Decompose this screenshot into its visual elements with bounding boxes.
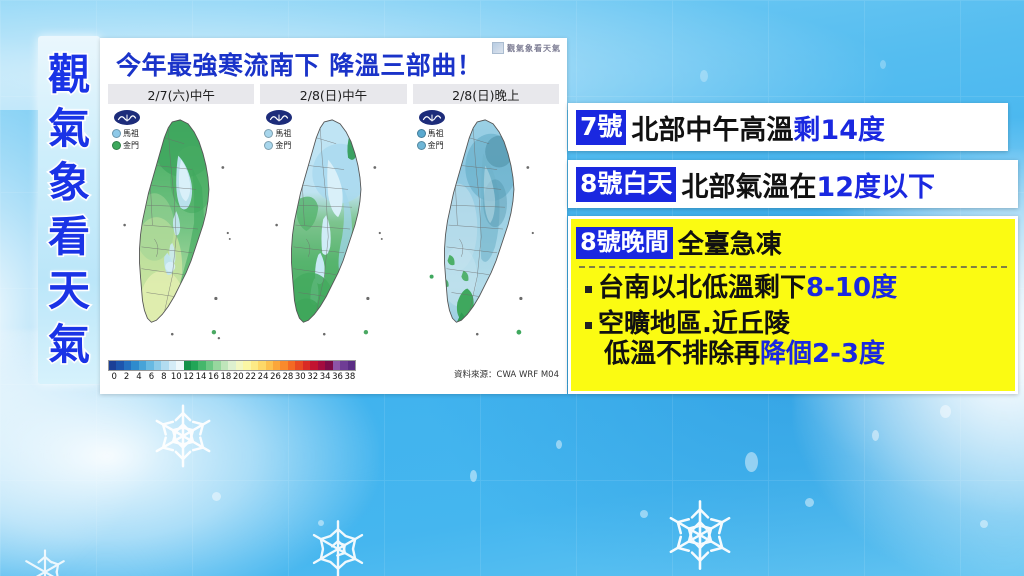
snowflake-icon	[305, 516, 371, 576]
map-card-header: 今年最強寒流南下 降溫三部曲！ 觀氣象看天氣	[100, 38, 567, 84]
colorbar-swatch	[184, 361, 191, 370]
colorbar-swatch	[236, 361, 243, 370]
colorbar-tick: 6	[145, 372, 157, 382]
colorbar-swatch	[333, 361, 340, 370]
island-label: 金門	[428, 140, 444, 151]
colorbar-swatch	[340, 361, 347, 370]
snowflake-icon	[660, 495, 740, 575]
colorbar-tick: 4	[133, 372, 145, 382]
island-label: 金門	[275, 140, 291, 151]
info-line: 7號 北部中午高溫 剩14度	[571, 106, 1005, 148]
temperature-colorbar: 02468101214161820222426283032343638	[108, 360, 356, 382]
bullet-text: 空曠地區.近丘陵 低溫不排除再降個2-3度	[598, 309, 885, 370]
bullet-text-black-2: 低溫不排除再	[604, 339, 760, 369]
island-color-swatch	[112, 129, 121, 138]
vertical-title-char: 觀	[48, 54, 90, 96]
info-badge-day8-daytime: 8號白天	[576, 167, 676, 202]
colorbar-tick: 14	[195, 372, 207, 382]
colorbar-tick: 12	[182, 372, 194, 382]
colorbar-swatch	[116, 361, 123, 370]
vertical-title-char: 氣	[48, 108, 90, 150]
island-color-swatch	[417, 129, 426, 138]
colorbar-swatch	[251, 361, 258, 370]
colorbar-swatch	[273, 361, 280, 370]
colorbar-tick: 22	[244, 372, 256, 382]
colorbar-swatch	[161, 361, 168, 370]
highlight-bullet-1: 台南以北低溫剩下8-10度	[571, 268, 1015, 304]
colorbar-swatch	[325, 361, 332, 370]
info-text-black: 北部氣溫在	[681, 165, 816, 204]
bullet-square-icon	[585, 322, 592, 329]
island-legend-row: 馬祖	[417, 128, 444, 139]
vertical-title-char: 氣	[48, 324, 90, 366]
info-badge-day7: 7號	[576, 110, 626, 145]
map-colorbar-row: 02468101214161820222426283032343638 資料來源…	[100, 356, 567, 382]
bullet-text-black: 台南以北低溫剩下	[598, 273, 806, 303]
island-color-swatch	[417, 141, 426, 150]
colorbar-tick: 16	[207, 372, 219, 382]
bullet-square-icon	[585, 286, 592, 293]
map-date-labels: 2/7(六)中午 2/8(日)中午 2/8(日)晚上	[100, 84, 567, 104]
colorbar-swatch	[176, 361, 183, 370]
colorbar-tick: 28	[282, 372, 294, 382]
colorbar-swatch	[213, 361, 220, 370]
bullet-text: 台南以北低溫剩下8-10度	[598, 273, 897, 304]
bullet-text-blue: 8-10度	[806, 273, 897, 303]
colorbar-swatch	[109, 361, 116, 370]
colorbar-tick: 26	[269, 372, 281, 382]
colorbar-tick: 38	[344, 372, 356, 382]
island-legend-row: 馬祖	[112, 128, 139, 139]
bullet-text-line2: 低溫不排除再降個2-3度	[598, 339, 885, 370]
island-legend-row: 金門	[264, 140, 291, 151]
colorbar-swatch	[221, 361, 228, 370]
snowflake-icon	[147, 400, 219, 472]
island-color-swatch	[264, 129, 273, 138]
highlight-heading: 全臺急凍	[678, 224, 782, 261]
colorbar-tick: 8	[158, 372, 170, 382]
forecast-map-panel-1[interactable]: 馬祖 金門	[106, 108, 256, 356]
watermark-text: 觀氣象看天氣	[507, 43, 561, 54]
info-text-black: 北部中午高溫	[631, 108, 793, 147]
date-label-panel-1: 2/7(六)中午	[108, 84, 254, 104]
colorbar-swatch	[266, 361, 273, 370]
island-color-swatch	[264, 141, 273, 150]
colorbar-tick: 30	[294, 372, 306, 382]
colorbar-swatch	[198, 361, 205, 370]
info-panel-day8-daytime[interactable]: 8號白天 北部氣溫在 12度以下	[568, 160, 1018, 208]
info-panel-day7[interactable]: 7號 北部中午高溫 剩14度	[568, 103, 1008, 151]
colorbar-tick: 24	[257, 372, 269, 382]
colorbar-swatch	[318, 361, 325, 370]
info-badge-day8-night: 8號晚間	[576, 227, 673, 259]
island-label: 馬祖	[275, 128, 291, 139]
colorbar-swatch	[348, 361, 355, 370]
forecast-map-panel-2[interactable]: 馬祖 金門	[258, 108, 408, 356]
colorbar-swatch	[154, 361, 161, 370]
channel-watermark: 觀氣象看天氣	[492, 42, 561, 54]
colorbar-tick: 0	[108, 372, 120, 382]
colorbar-tick: 36	[331, 372, 343, 382]
map-card-title: 今年最強寒流南下 降溫三部曲！	[116, 46, 482, 82]
colorbar-tick: 18	[220, 372, 232, 382]
date-label-panel-3: 2/8(日)晚上	[413, 84, 559, 104]
island-legend-row: 金門	[417, 140, 444, 151]
colorbar-swatch	[243, 361, 250, 370]
info-panel-day8-night[interactable]: 8號晚間 全臺急凍 台南以北低溫剩下8-10度 空曠地區.近丘陵 低溫不排除再降…	[568, 216, 1018, 394]
info-text-blue: 12度以下	[816, 165, 935, 204]
colorbar-swatch	[191, 361, 198, 370]
colorbar-swatch	[303, 361, 310, 370]
colorbar-gradient	[108, 360, 356, 371]
colorbar-tick: 2	[120, 372, 132, 382]
colorbar-tick: 10	[170, 372, 182, 382]
island-legend-panel-3: 馬祖 金門	[417, 128, 444, 152]
colorbar-tick: 32	[307, 372, 319, 382]
forecast-map-card: 今年最強寒流南下 降溫三部曲！ 觀氣象看天氣 2/7(六)中午 2/8(日)中午…	[100, 38, 567, 394]
forecast-maps-row: 馬祖 金門	[100, 104, 567, 356]
snowflake-icon	[18, 545, 72, 576]
watermark-logo-icon	[492, 42, 504, 54]
highlight-header: 8號晚間 全臺急凍	[571, 219, 1015, 261]
colorbar-swatch	[131, 361, 138, 370]
island-label: 金門	[123, 140, 139, 151]
colorbar-swatch	[295, 361, 302, 370]
info-text-blue: 剩14度	[793, 108, 885, 147]
cwa-logo-icon	[419, 110, 445, 125]
island-legend-panel-1: 馬祖 金門	[112, 128, 139, 152]
island-label: 馬祖	[428, 128, 444, 139]
island-color-swatch	[112, 141, 121, 150]
colorbar-swatch	[139, 361, 146, 370]
island-legend-row: 金門	[112, 140, 139, 151]
island-legend-panel-2: 馬祖 金門	[264, 128, 291, 152]
colorbar-swatch	[310, 361, 317, 370]
vertical-title-char: 看	[48, 216, 90, 258]
colorbar-swatch	[288, 361, 295, 370]
date-label-panel-2: 2/8(日)中午	[260, 84, 406, 104]
island-legend-row: 馬祖	[264, 128, 291, 139]
data-source-text: 資料來源：CWA WRF M04	[364, 368, 559, 382]
colorbar-swatch	[228, 361, 235, 370]
colorbar-tick: 34	[319, 372, 331, 382]
colorbar-swatch	[146, 361, 153, 370]
program-vertical-title: 觀 氣 象 看 天 氣	[38, 36, 100, 384]
colorbar-swatch	[169, 361, 176, 370]
info-line: 8號白天 北部氣溫在 12度以下	[571, 163, 1015, 205]
forecast-map-panel-3[interactable]: 馬祖 金門	[411, 108, 561, 356]
colorbar-swatch	[206, 361, 213, 370]
island-label: 馬祖	[123, 128, 139, 139]
colorbar-tick: 20	[232, 372, 244, 382]
divider	[579, 266, 1007, 268]
vertical-title-char: 天	[48, 270, 90, 312]
colorbar-swatch	[124, 361, 131, 370]
vertical-title-char: 象	[48, 162, 90, 204]
colorbar-swatch	[280, 361, 287, 370]
colorbar-swatch	[258, 361, 265, 370]
bullet-text-blue-2: 降個2-3度	[760, 339, 885, 369]
bullet-text-black: 空曠地區.近丘陵	[598, 309, 790, 339]
cwa-logo-icon	[114, 110, 140, 125]
colorbar-ticklabels: 02468101214161820222426283032343638	[108, 372, 356, 382]
highlight-bullet-2: 空曠地區.近丘陵 低溫不排除再降個2-3度	[571, 304, 1015, 370]
